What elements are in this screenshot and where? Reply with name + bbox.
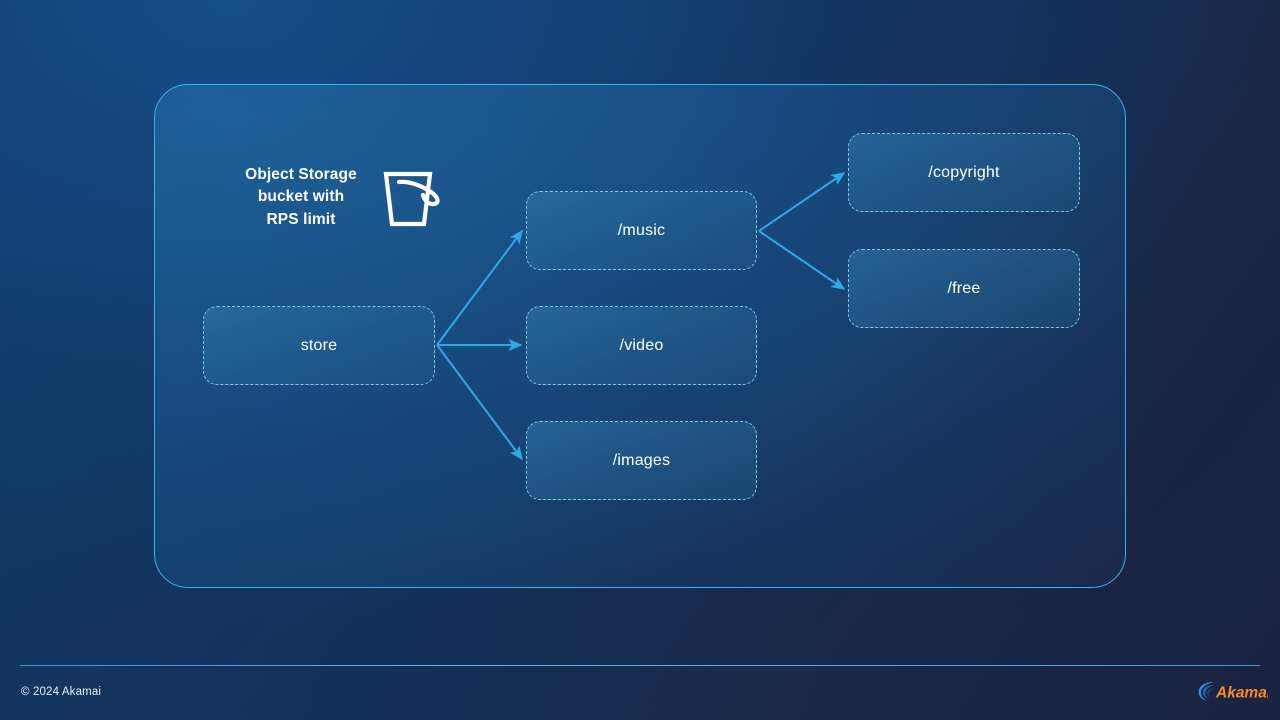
footer-divider [20, 665, 1260, 666]
akamai-swirl-icon [1199, 682, 1215, 701]
node-store-label: store [301, 337, 338, 355]
node-music-label: /music [618, 222, 665, 240]
caption-line-3: RPS limit [228, 209, 374, 231]
node-free[interactable]: /free [848, 249, 1080, 328]
footer-copyright: © 2024 Akamai [21, 686, 101, 698]
node-copyright-label: /copyright [928, 164, 999, 182]
bucket-icon [380, 168, 446, 230]
node-images-label: /images [613, 452, 670, 470]
node-free-label: /free [947, 280, 980, 298]
node-store[interactable]: store [203, 306, 435, 385]
node-music[interactable]: /music [526, 191, 757, 270]
node-video[interactable]: /video [526, 306, 757, 385]
node-images[interactable]: /images [526, 421, 757, 500]
caption-line-1: Object Storage [228, 164, 374, 186]
akamai-logo[interactable]: Akamai [1196, 679, 1268, 703]
object-storage-caption: Object Storage bucket with RPS limit [228, 164, 374, 231]
node-copyright[interactable]: /copyright [848, 133, 1080, 212]
node-video-label: /video [620, 337, 664, 355]
akamai-wordmark: Akamai [1215, 684, 1268, 701]
caption-line-2: bucket with [228, 186, 374, 208]
slide-background: Object Storage bucket with RPS limit sto… [0, 0, 1280, 720]
